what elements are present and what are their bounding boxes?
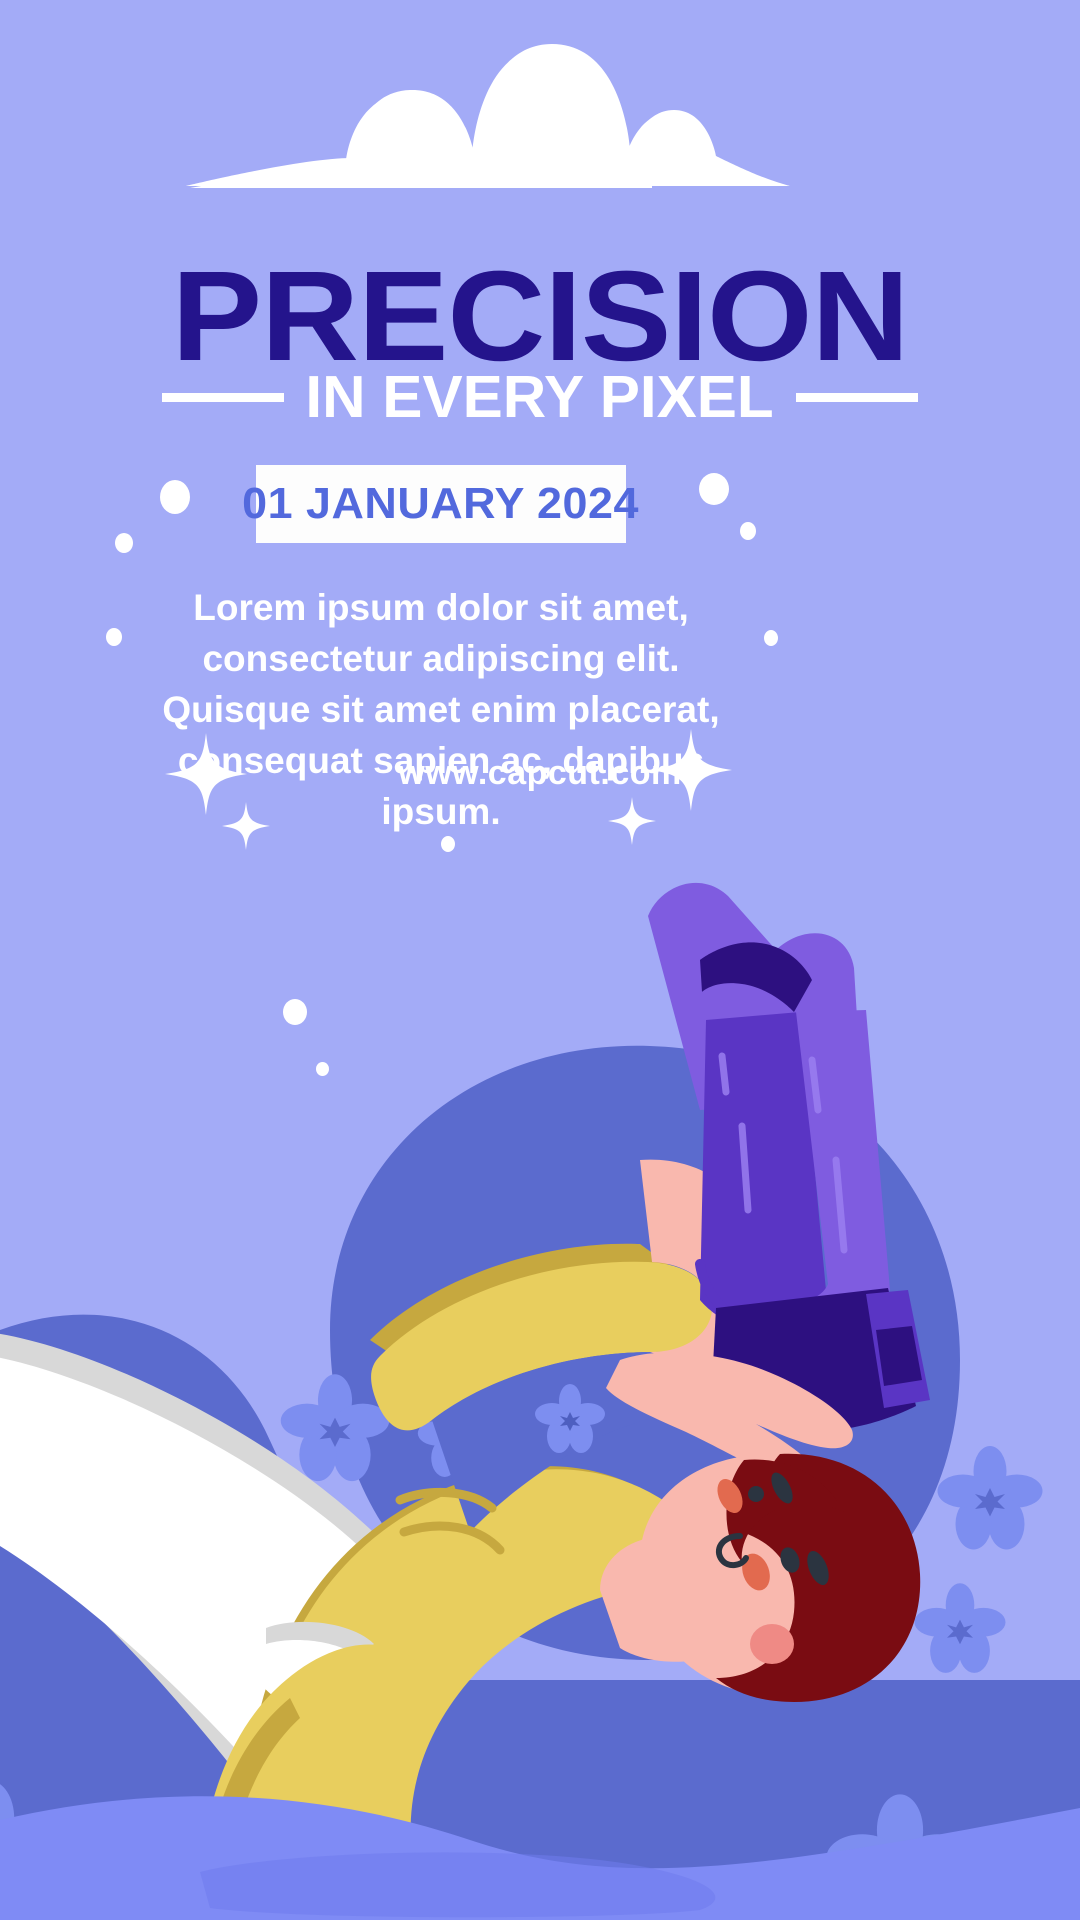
rule-left — [162, 393, 284, 402]
subtitle-row: IN EVERY PIXEL — [0, 368, 1080, 427]
dot-5 — [106, 628, 122, 646]
mouth — [750, 1624, 794, 1664]
body-paragraph: Lorem ipsum dolor sit amet, consectetur … — [148, 582, 734, 837]
subtitle: IN EVERY PIXEL — [306, 368, 774, 427]
person-lying-with-telescope-illustration — [0, 860, 1080, 1920]
dot-6 — [764, 630, 778, 646]
dot-3 — [699, 473, 729, 505]
cloud-shape — [0, 0, 1080, 260]
website-url: www.capcut.com — [0, 754, 1080, 793]
dot-1 — [160, 480, 190, 514]
dot-4 — [740, 522, 756, 540]
page-title: PRECISION — [0, 253, 1080, 381]
poster-canvas: PRECISION IN EVERY PIXEL 01 JANUARY 2024… — [0, 0, 1080, 1920]
date-badge: 01 JANUARY 2024 — [256, 465, 626, 543]
date-badge-label: 01 JANUARY 2024 — [243, 479, 640, 529]
eye-upper — [748, 1486, 764, 1502]
rule-right — [796, 393, 918, 402]
dot-2 — [115, 533, 133, 553]
dot-7 — [441, 836, 455, 852]
